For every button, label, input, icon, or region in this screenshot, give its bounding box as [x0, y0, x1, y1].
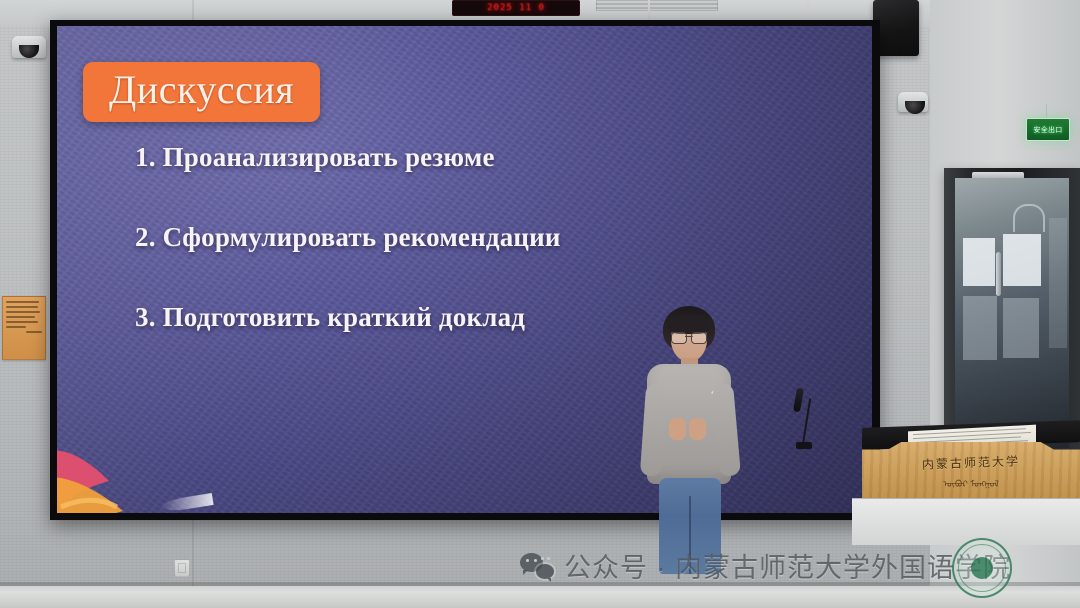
watermark-text: 公众号 · 内蒙古师范大学外国语学院 [564, 546, 1011, 585]
slide-bullet-3: 3. Подготовить краткий доклад [135, 304, 561, 331]
lecture-hall-screenshot: 2025 11 0 安全出口 [0, 0, 1080, 608]
digital-clock: 2025 11 0 [452, 0, 580, 16]
lectern-base [852, 498, 1080, 545]
microphone-base [796, 442, 812, 449]
brush-decoration-icon [57, 411, 171, 513]
presenter-hand-right [689, 418, 706, 440]
slide-bullet-list: 1. Проанализировать резюме 2. Сформулиро… [135, 144, 561, 331]
lectern-nameplate: 内蒙古师范大学 ᠥᠪᠥᠷ ᠮᠣᠩᠭᠣᠯ [922, 454, 1020, 490]
slide-bullet-2: 2. Сформулировать рекомендации [135, 224, 561, 251]
podium-microphone [790, 388, 820, 444]
emergency-exit-sign: 安全出口 [1026, 118, 1070, 141]
wall-notice-lines [3, 297, 45, 337]
slide-title-text: Дискуссия [109, 67, 294, 112]
glasses-icon [671, 332, 707, 342]
exit-sign-label: 安全出口 [1033, 125, 1062, 135]
swoosh-decoration-icon [160, 493, 213, 513]
ceiling-vent [596, 0, 718, 11]
digital-clock-value: 2025 11 0 [487, 3, 545, 13]
microphone-stem [802, 398, 811, 444]
slide-title-pill: Дискуссия [83, 62, 320, 122]
wechat-icon [520, 553, 554, 579]
exit-sign-stem [1046, 104, 1047, 118]
watermark: 公众号 · 内蒙古师范大学外国语学院 [520, 546, 1011, 585]
floor [0, 586, 1080, 608]
glass-door[interactable] [944, 168, 1080, 458]
dome-camera-icon [12, 36, 46, 58]
presenter-fringe [668, 314, 710, 334]
wall-outlet [174, 559, 190, 577]
presenter [641, 306, 739, 578]
door-handle[interactable] [996, 252, 1001, 296]
door-glass-panel [955, 178, 1069, 448]
university-seal-icon [952, 538, 1012, 598]
presentation-slide: Дискуссия 1. Проанализировать резюме 2. … [57, 26, 872, 513]
lectern-chinese-name: 内蒙古师范大学 [922, 452, 1021, 472]
dome-camera-right-icon [898, 92, 928, 112]
lectern-mongolian-name: ᠥᠪᠥᠷ ᠮᠣᠩᠭᠣᠯ [922, 474, 1020, 490]
slide-bullet-1: 1. Проанализировать резюме [135, 144, 561, 171]
projection-screen: Дискуссия 1. Проанализировать резюме 2. … [50, 20, 880, 520]
microphone-head-icon [793, 388, 804, 413]
presenter-hand-left [669, 418, 686, 440]
wall-notice-sign [2, 296, 46, 360]
